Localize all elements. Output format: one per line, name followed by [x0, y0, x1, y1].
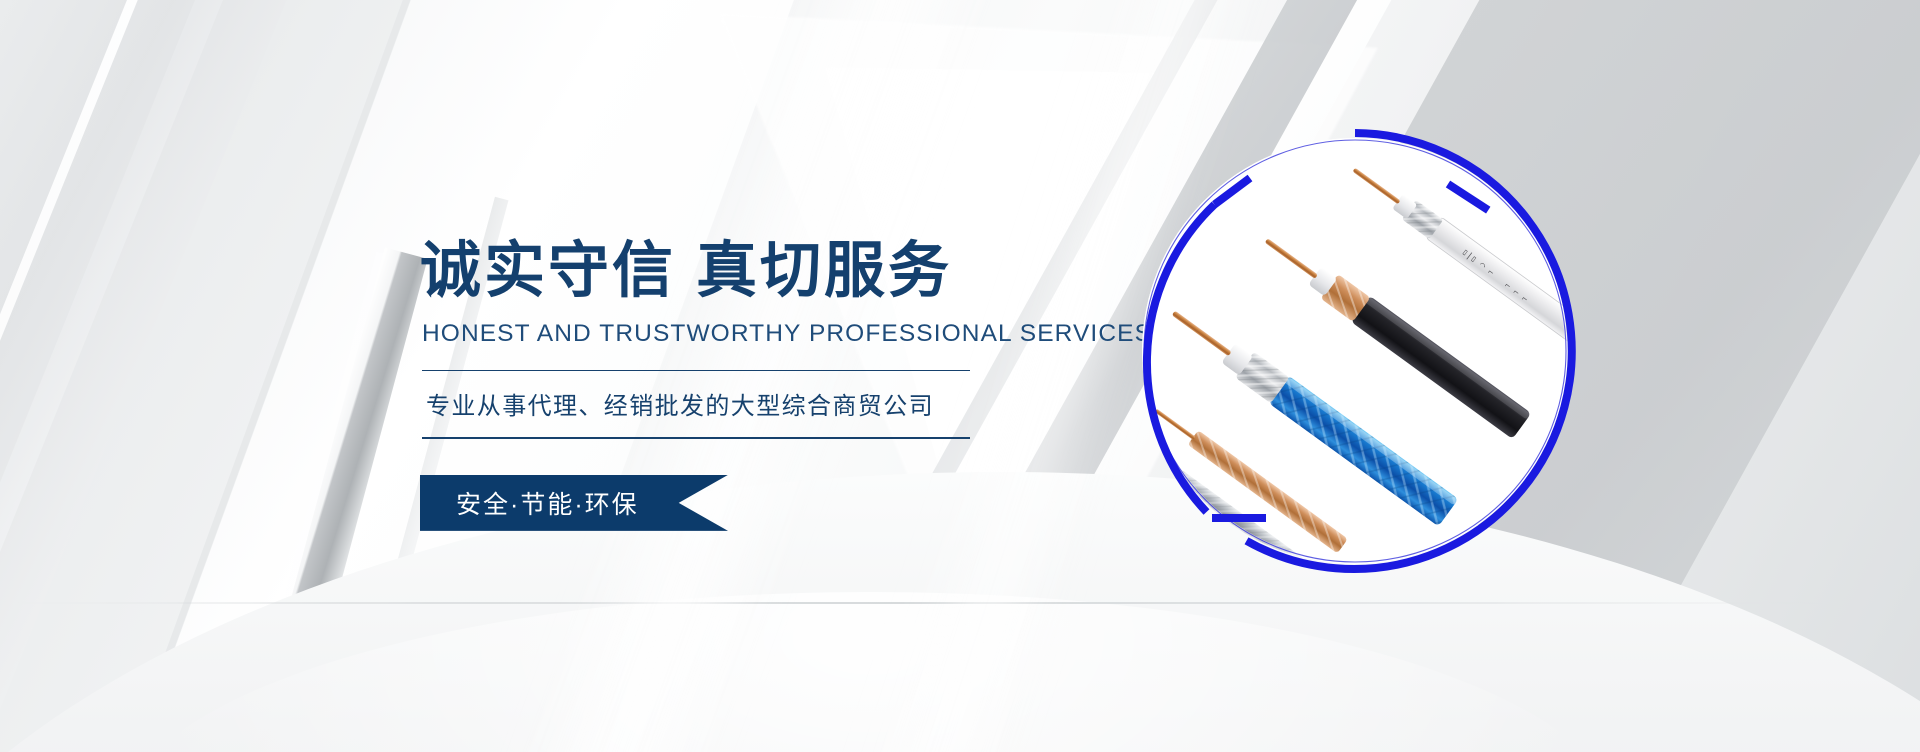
banner-headline: 诚实守信 真切服务 [420, 238, 1040, 304]
banner-copy: 诚实守信 真切服务 HONEST AND TRUSTWORTHY PROFESS… [420, 238, 1040, 531]
divider-top [422, 370, 970, 372]
divider-bottom [422, 437, 970, 439]
feature-ribbon[interactable]: 安全·节能·环保 [420, 475, 728, 531]
product-medallion[interactable]: ▯|▯ ◠ ⌐ ⌐ ⌐ ⌐ [1130, 126, 1580, 576]
banner-subheadline: HONEST AND TRUSTWORTHY PROFESSIONAL SERV… [422, 320, 1040, 348]
banner-stage: 诚实守信 真切服务 HONEST AND TRUSTWORTHY PROFESS… [0, 0, 1920, 752]
blue-ring-icon [1130, 126, 1580, 576]
feature-ribbon-label: 安全·节能·环保 [420, 485, 639, 521]
banner-description: 专业从事代理、经销批发的大型综合商贸公司 [426, 386, 1040, 421]
hero-banner: 诚实守信 真切服务 HONEST AND TRUSTWORTHY PROFESS… [0, 0, 1920, 752]
